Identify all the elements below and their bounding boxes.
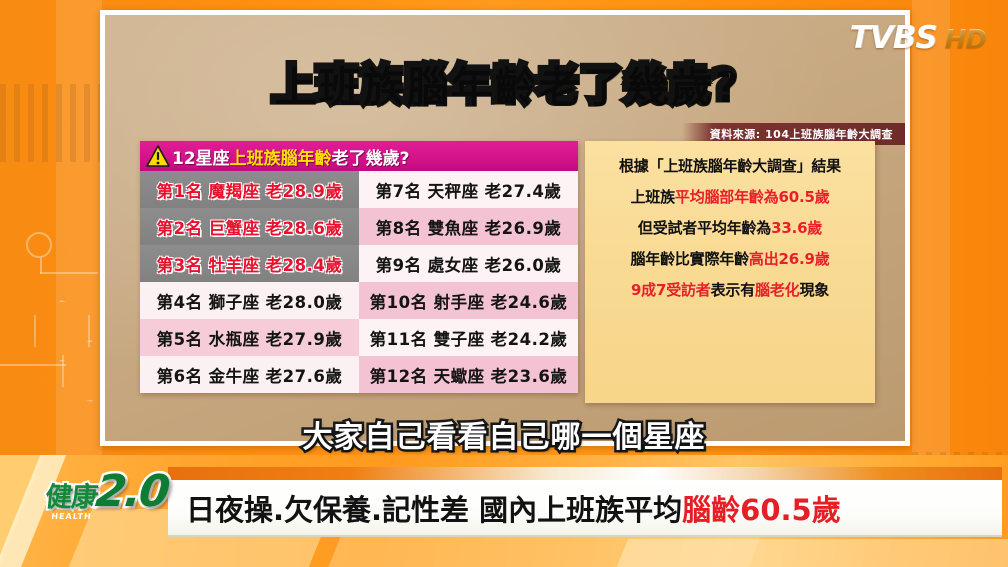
program-logo-number: 2.0 [93, 466, 170, 517]
table-header-highlight: 上班族腦年齡 [230, 144, 332, 169]
row-rank: 第12名 [370, 363, 428, 387]
row-sign: 射手座 [434, 289, 485, 313]
table-row: 第2名巨蟹座老28.6歲 [140, 208, 359, 245]
summary-line: 根據「上班族腦年齡大調查」結果 [593, 159, 867, 174]
table-row: 第8名雙魚座老26.9歲 [359, 208, 578, 245]
row-age: 老27.4歲 [485, 178, 562, 202]
row-sign: 魔羯座 [209, 178, 260, 202]
row-rank: 第8名 [376, 215, 422, 239]
summary-text: 腦年齡比實際年齡 [630, 250, 748, 268]
network-logo: TVBS HD [850, 20, 986, 56]
chyron-diagonal-accent [0, 455, 48, 567]
summary-highlight: 高出26.9歲 [749, 250, 830, 268]
graphic-panel-frame: 上班族腦年齡老了幾歲? 資料來源: 104上班族腦年齡大調查 12星座上班族腦年… [100, 10, 910, 446]
headline-text: 日夜操.欠保養.記性差 國內上班族平均腦齡60.5歲 [186, 487, 841, 529]
row-age: 老28.4歲 [266, 252, 343, 276]
table-row: 第6名金牛座老27.6歲 [140, 356, 359, 393]
page-title-part2: 腦年齡 [404, 60, 536, 109]
row-age: 老24.2歲 [491, 326, 568, 350]
background-stripes [0, 84, 102, 162]
background-connector-line [40, 258, 42, 274]
chyron-bar: 日夜操.欠保養.記性差 國內上班族平均腦齡60.5歲 [168, 480, 1002, 537]
page-title-part3: 老了幾歲? [536, 60, 738, 109]
row-age: 老23.6歲 [491, 363, 568, 387]
network-name: TVBS [850, 20, 937, 56]
row-sign: 牡羊座 [209, 252, 260, 276]
background-circle [26, 232, 52, 258]
row-age: 老26.9歲 [485, 215, 562, 239]
zodiac-ranking-table: 12星座上班族腦年齡老了幾歲? 第1名魔羯座老28.9歲 第2名巨蟹座老28.6… [140, 141, 578, 393]
row-sign: 水瓶座 [209, 326, 260, 350]
summary-text: 上班族 [630, 188, 674, 206]
warning-triangle-icon [146, 145, 170, 167]
graphic-panel: 上班族腦年齡老了幾歲? 資料來源: 104上班族腦年齡大調查 12星座上班族腦年… [105, 15, 905, 441]
row-rank: 第10名 [370, 289, 428, 313]
row-rank: 第3名 [157, 252, 203, 276]
summary-text: 根據「上班族腦年齡大調查」結果 [619, 157, 841, 175]
headline-main: 日夜操.欠保養.記性差 國內上班族平均 [186, 493, 682, 527]
row-rank: 第5名 [157, 326, 203, 350]
table-row: 第12名天蠍座老23.6歲 [359, 356, 578, 393]
row-rank: 第6名 [157, 363, 203, 387]
headline-highlight: 腦齡60.5歲 [682, 493, 841, 527]
program-logo: 健康 2.0 HEALTH [43, 466, 170, 517]
row-sign: 雙子座 [434, 326, 485, 350]
table-row: 第7名天秤座老27.4歲 [359, 171, 578, 208]
row-age: 老27.6歲 [266, 363, 343, 387]
table-row: 第11名雙子座老24.2歲 [359, 319, 578, 356]
summary-text: 現象 [799, 281, 829, 299]
broadcast-screen: TVBS HD 上班族腦年齡老了幾歲? 資料來源: 104上班族腦年齡大調查 1 [0, 0, 1008, 567]
row-sign: 金牛座 [209, 363, 260, 387]
survey-summary-panel: 根據「上班族腦年齡大調查」結果 上班族平均腦部年齡為60.5歲 但受試者平均年齡… [585, 141, 875, 403]
table-row: 第5名水瓶座老27.9歲 [140, 319, 359, 356]
row-rank: 第1名 [157, 178, 203, 202]
chyron-diagonal-accent [612, 539, 1008, 567]
row-age: 老28.9歲 [266, 178, 343, 202]
table-body: 第1名魔羯座老28.9歲 第2名巨蟹座老28.6歲 第3名牡羊座老28.4歲 第… [140, 171, 578, 393]
summary-highlight: 平均腦部年齡為60.5歲 [675, 188, 830, 206]
page-title-part1: 上班族 [272, 60, 404, 109]
chyron-top-strip [168, 467, 1002, 480]
row-sign: 獅子座 [209, 289, 260, 313]
row-sign: 處女座 [428, 252, 479, 276]
program-logo-cn: 健康 [44, 475, 100, 514]
source-attribution-text: 資料來源: 104上班族腦年齡大調查 [710, 126, 893, 142]
summary-highlight: 腦老化 [755, 281, 799, 299]
summary-line: 但受試者平均年齡為33.6歲 [593, 221, 867, 236]
chyron-diagonal-accent [318, 533, 762, 567]
background-connector-line [40, 272, 98, 274]
row-rank: 第7名 [376, 178, 422, 202]
table-row: 第4名獅子座老28.0歲 [140, 282, 359, 319]
row-rank: 第11名 [370, 326, 428, 350]
row-sign: 雙魚座 [428, 215, 479, 239]
row-rank: 第2名 [157, 215, 203, 239]
table-column-right: 第7名天秤座老27.4歲 第8名雙魚座老26.9歲 第9名處女座老26.0歲 第… [359, 171, 578, 393]
table-header-suffix: 老了幾歲? [332, 144, 410, 169]
summary-text: 但受試者平均年齡為 [638, 219, 771, 237]
row-age: 老26.0歲 [485, 252, 562, 276]
row-sign: 天蠍座 [434, 363, 485, 387]
program-logo-subtitle: HEALTH [51, 512, 92, 521]
row-age: 老27.9歲 [266, 326, 343, 350]
summary-highlight: 33.6歲 [771, 219, 822, 237]
summary-line: 腦年齡比實際年齡高出26.9歲 [593, 252, 867, 267]
table-header: 12星座上班族腦年齡老了幾歲? [140, 141, 578, 171]
row-sign: 巨蟹座 [209, 215, 260, 239]
subtitle-text: 大家自己看看自己哪一個星座 [303, 420, 706, 455]
row-sign: 天秤座 [428, 178, 479, 202]
summary-line: 上班族平均腦部年齡為60.5歲 [593, 190, 867, 205]
table-row: 第10名射手座老24.6歲 [359, 282, 578, 319]
table-header-prefix: 12星座 [172, 144, 230, 169]
table-row: 第3名牡羊座老28.4歲 [140, 245, 359, 282]
row-age: 老28.6歲 [266, 215, 343, 239]
network-quality-badge: HD [945, 25, 986, 55]
summary-highlight: 9成7受訪者 [631, 281, 711, 299]
table-row: 第9名處女座老26.0歲 [359, 245, 578, 282]
summary-text: 表示有 [711, 281, 755, 299]
table-column-left: 第1名魔羯座老28.9歲 第2名巨蟹座老28.6歲 第3名牡羊座老28.4歲 第… [140, 171, 359, 393]
row-age: 老24.6歲 [491, 289, 568, 313]
page-title: 上班族腦年齡老了幾歲? [105, 51, 905, 112]
row-age: 老28.0歲 [266, 289, 343, 313]
row-rank: 第9名 [376, 252, 422, 276]
background-hexagon [34, 300, 90, 362]
subtitle-caption: 大家自己看看自己哪一個星座 [0, 412, 1008, 456]
row-rank: 第4名 [157, 289, 203, 313]
lower-third: 日夜操.欠保養.記性差 國內上班族平均腦齡60.5歲 健康 2.0 HEALTH [0, 455, 1008, 567]
summary-line: 9成7受訪者表示有腦老化現象 [593, 283, 867, 298]
table-row: 第1名魔羯座老28.9歲 [140, 171, 359, 208]
background-connector-line [0, 364, 66, 366]
